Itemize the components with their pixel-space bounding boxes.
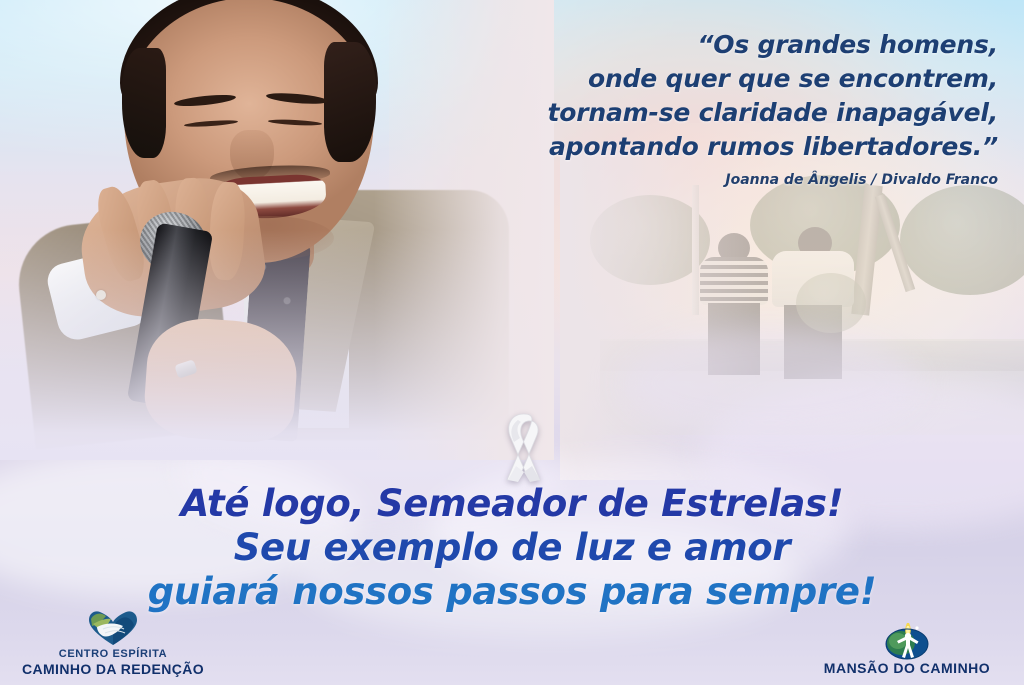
message-line-2: Seu exemplo de luz e amor [0,526,1024,570]
heart-hands-icon [8,608,218,648]
memorial-poster: “Os grandes homens, onde quer que se enc… [0,0,1024,685]
quote-line-3: tornam-se claridade inapagável, [438,96,998,130]
globe-figure-flame-icon [802,620,1012,660]
logo-centro-espirita-caminho-da-redencao: CENTRO ESPÍRITA CAMINHO DA REDENÇÃO [8,608,218,677]
quote-attribution: Joanna de Ângelis / Divaldo Franco [438,172,998,188]
white-ribbon-icon [488,408,560,486]
quote-line-2: onde quer que se encontrem, [438,62,998,96]
portrait-photo [0,0,494,440]
logo-left-line-1: CENTRO ESPÍRITA [8,648,218,661]
logo-mansao-do-caminho: MANSÃO DO CAMINHO [802,620,1012,677]
logo-left-line-2: CAMINHO DA REDENÇÃO [8,661,218,677]
quote-line-4: apontando rumos libertadores.” [438,130,998,164]
quote-line-1: “Os grandes homens, [438,28,998,62]
tribute-message: Até logo, Semeador de Estrelas! Seu exem… [0,482,1024,614]
logo-right-line-1: MANSÃO DO CAMINHO [802,660,1012,677]
quote-text: “Os grandes homens, onde quer que se enc… [438,28,998,164]
message-line-1: Até logo, Semeador de Estrelas! [0,482,1024,526]
